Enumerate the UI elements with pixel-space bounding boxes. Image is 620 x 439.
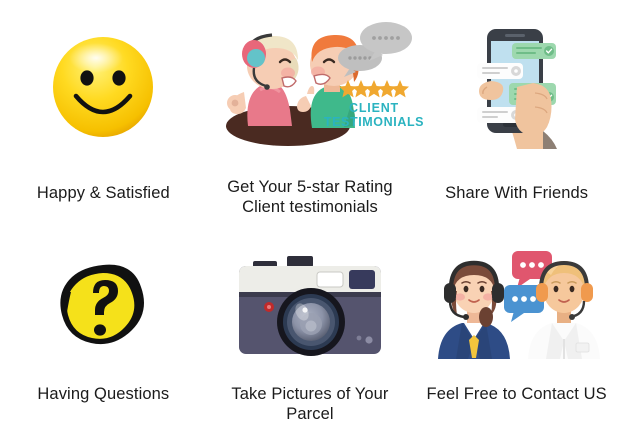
- testimonials-label: TESTIMONIALS: [324, 115, 424, 129]
- questions-art: [0, 240, 207, 360]
- camera-art: [207, 240, 414, 360]
- grid-cell-camera: Take Pictures of Your Parcel: [207, 240, 414, 439]
- happy-art: [0, 0, 207, 155]
- caption-happy: Happy & Satisfied: [37, 183, 170, 203]
- question-mark-badge-icon: [59, 262, 147, 350]
- caption-contact: Feel Free to Contact US: [427, 384, 607, 404]
- chat-bubble-outgoing-1: [512, 43, 556, 59]
- caption-camera: Take Pictures of Your Parcel: [207, 384, 414, 424]
- chat-bubble-incoming-1: [477, 63, 523, 79]
- grid-cell-questions: Having Questions: [0, 240, 207, 439]
- camera-icon: [225, 252, 395, 362]
- caption-questions: Having Questions: [37, 384, 169, 404]
- grid-cell-happy: Happy & Satisfied: [0, 0, 207, 240]
- star-rating-icon: [339, 80, 409, 97]
- client-label: CLIENT: [349, 101, 399, 115]
- caption-testimonials: Get Your 5-star Rating Client testimonia…: [227, 177, 392, 217]
- icon-grid: Happy & Satisfied: [0, 0, 620, 439]
- grid-cell-share: Share With Friends: [413, 0, 620, 240]
- caption-share: Share With Friends: [445, 183, 588, 203]
- grid-cell-testimonials: CLIENT TESTIMONIALS Get Your 5-star Rati…: [207, 0, 414, 240]
- share-art: [413, 0, 620, 155]
- smiley-face-icon: [48, 32, 158, 142]
- support-agents-icon: [424, 243, 610, 361]
- hand-holding-phone-chat-icon: [457, 21, 577, 149]
- contact-art: [413, 240, 620, 360]
- client-testimonials-icon: CLIENT TESTIMONIALS: [210, 18, 410, 148]
- testimonials-art: CLIENT TESTIMONIALS: [207, 0, 414, 155]
- grid-cell-contact: Feel Free to Contact US: [413, 240, 620, 439]
